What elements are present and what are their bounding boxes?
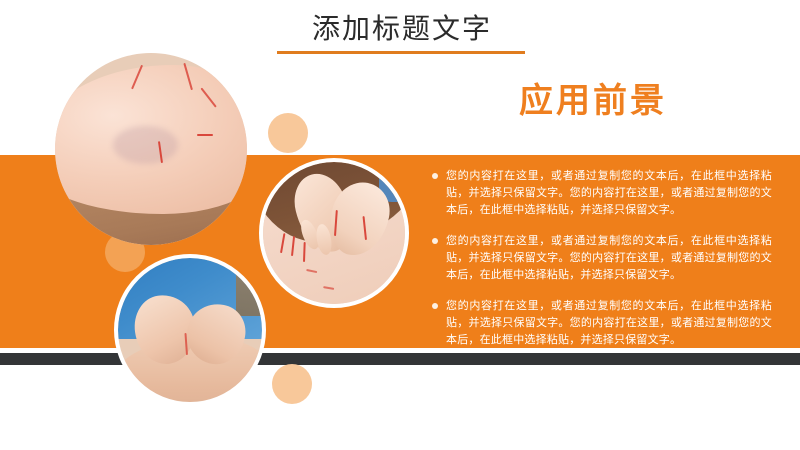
list-item: 您的内容打在这里，或者通过复制您的文本后，在此框中选择粘贴，并选择只保留文字。您…	[432, 232, 772, 283]
bullet-dot-icon	[432, 303, 438, 309]
peach-dot-top	[268, 113, 308, 153]
bullet-dot-icon	[432, 238, 438, 244]
acupuncture-hands-needles-photo	[259, 158, 409, 308]
list-item-text: 您的内容打在这里，或者通过复制您的文本后，在此框中选择粘贴，并选择只保留文字。您…	[446, 232, 772, 283]
list-item: 您的内容打在这里，或者通过复制您的文本后，在此框中选择粘贴，并选择只保留文字。您…	[432, 167, 772, 218]
peach-dot-bottom	[272, 364, 312, 404]
section-heading: 应用前景	[519, 80, 667, 122]
list-item-text: 您的内容打在这里，或者通过复制您的文本后，在此框中选择粘贴，并选择只保留文字。您…	[446, 167, 772, 218]
title-block: 添加标题文字	[277, 12, 527, 54]
list-item: 您的内容打在这里，或者通过复制您的文本后，在此框中选择粘贴，并选择只保留文字。您…	[432, 297, 772, 348]
needle-icon	[303, 241, 306, 261]
acupuncture-ankle-photo	[55, 53, 247, 245]
bullet-dot-icon	[432, 173, 438, 179]
needle-icon	[197, 134, 213, 136]
acupuncture-practitioner-blue-scrubs-photo	[114, 254, 266, 406]
photo-ankle-inner	[55, 53, 247, 245]
title-underline-rule	[277, 51, 525, 54]
bullet-list: 您的内容打在这里，或者通过复制您的文本后，在此框中选择粘贴，并选择只保留文字。您…	[432, 167, 772, 362]
slide-canvas: 添加标题文字 应用前景	[0, 0, 800, 450]
photo-scrubs-inner	[118, 258, 262, 402]
photo-hands-inner	[263, 162, 405, 304]
wood-background	[236, 258, 262, 316]
page-title: 添加标题文字	[277, 12, 527, 46]
ankle-shadow	[113, 126, 178, 164]
list-item-text: 您的内容打在这里，或者通过复制您的文本后，在此框中选择粘贴，并选择只保留文字。您…	[446, 297, 772, 348]
